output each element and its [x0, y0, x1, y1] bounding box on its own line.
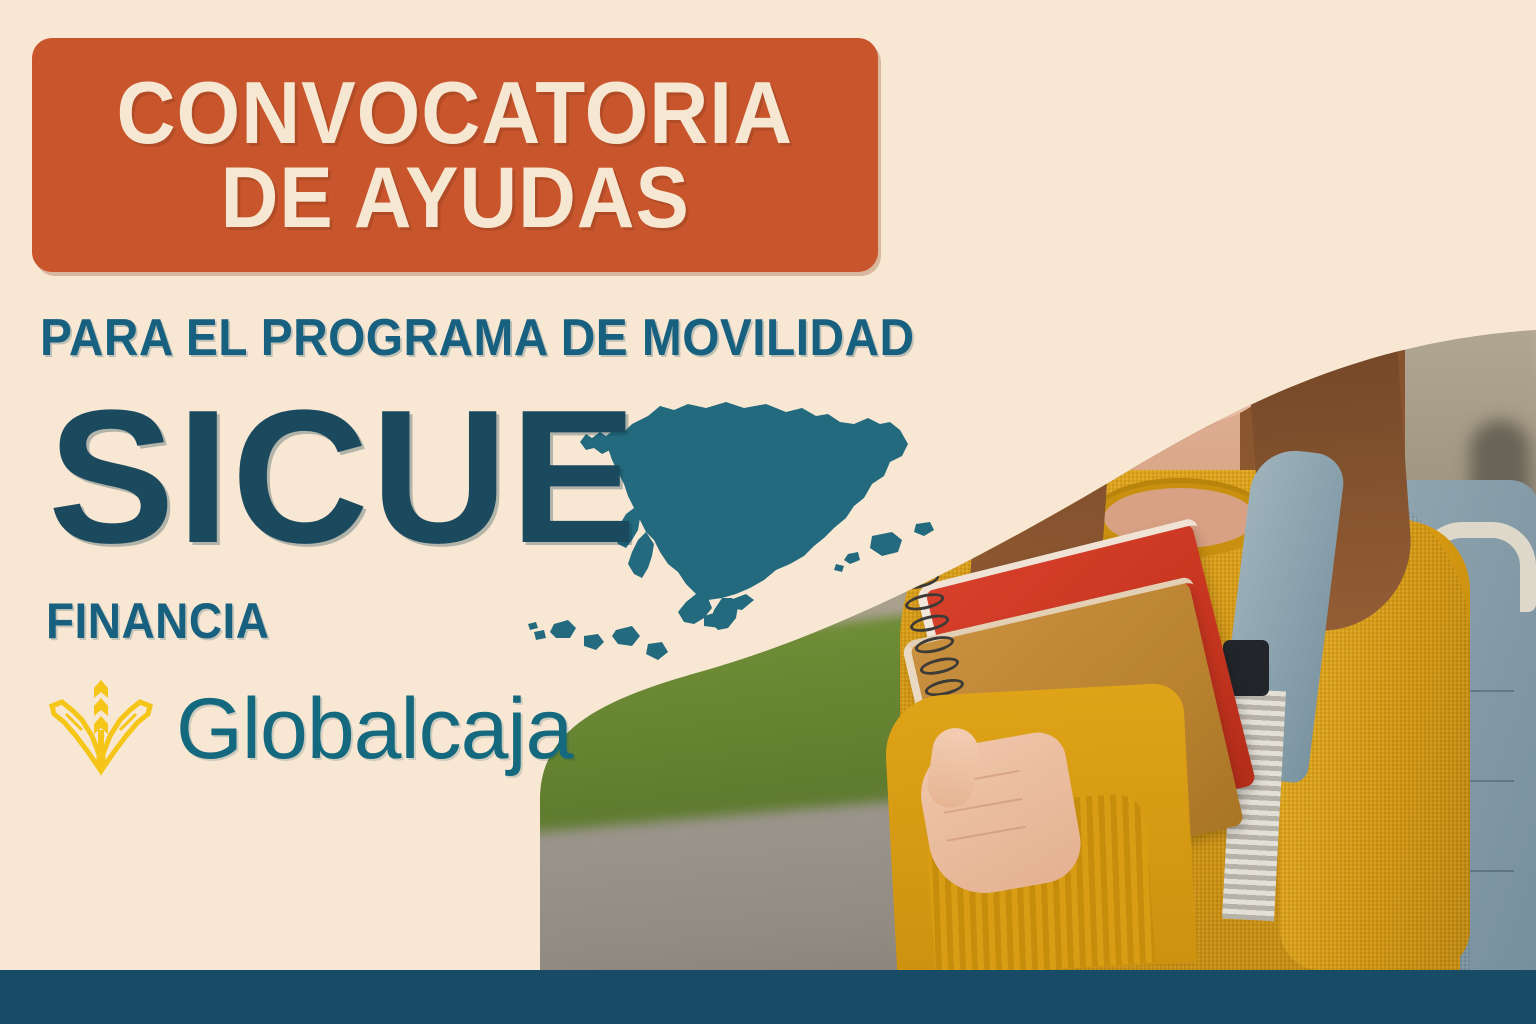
balearic-islands — [834, 522, 934, 572]
subheading: PARA EL PROGRAMA DE MOVILIDAD — [40, 308, 914, 368]
bottom-bar — [0, 970, 1536, 1024]
sponsor-logo: Globalcaja — [42, 676, 572, 781]
headline-line-1: CONVOCATORIA — [117, 70, 794, 156]
wheat-sheaf-icon — [42, 676, 160, 781]
sponsor-name: Globalcaja — [176, 686, 572, 772]
promotional-banner: CONVOCATORIA DE AYUDAS PARA EL PROGRAMA … — [0, 0, 1536, 1024]
sponsor-label: FINANCIA — [46, 592, 269, 650]
program-name: SICUE — [48, 382, 639, 572]
headline-box: CONVOCATORIA DE AYUDAS — [32, 38, 878, 272]
headline-line-2: DE AYUDAS — [220, 156, 689, 240]
